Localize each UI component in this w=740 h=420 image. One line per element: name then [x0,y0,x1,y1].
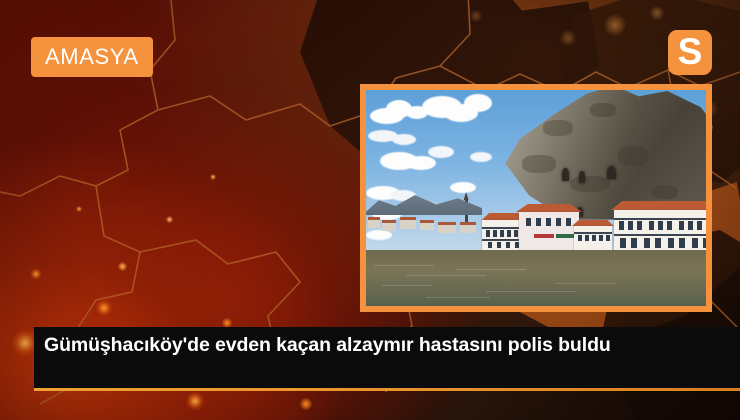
headline-bar: Gümüşhacıköy'de evden kaçan alzaymır has… [34,327,740,388]
photo-frame [360,84,712,312]
headline-accent-rule [34,388,740,391]
news-card: AMASYA S [0,0,740,420]
amasya-photo [366,90,706,306]
city-badge: AMASYA [31,37,153,77]
photo-river [366,250,706,306]
photo-rock-tomb-3 [607,166,616,179]
photo-rock-tomb-2 [579,171,585,183]
brand-logo-letter: S [678,33,703,70]
headline-text: Gümüşhacıköy'de evden kaçan alzaymır has… [44,333,726,358]
photo-rock-tomb-1 [562,168,569,181]
brand-logo-s-icon: S [668,30,712,75]
city-badge-label: AMASYA [45,44,139,70]
